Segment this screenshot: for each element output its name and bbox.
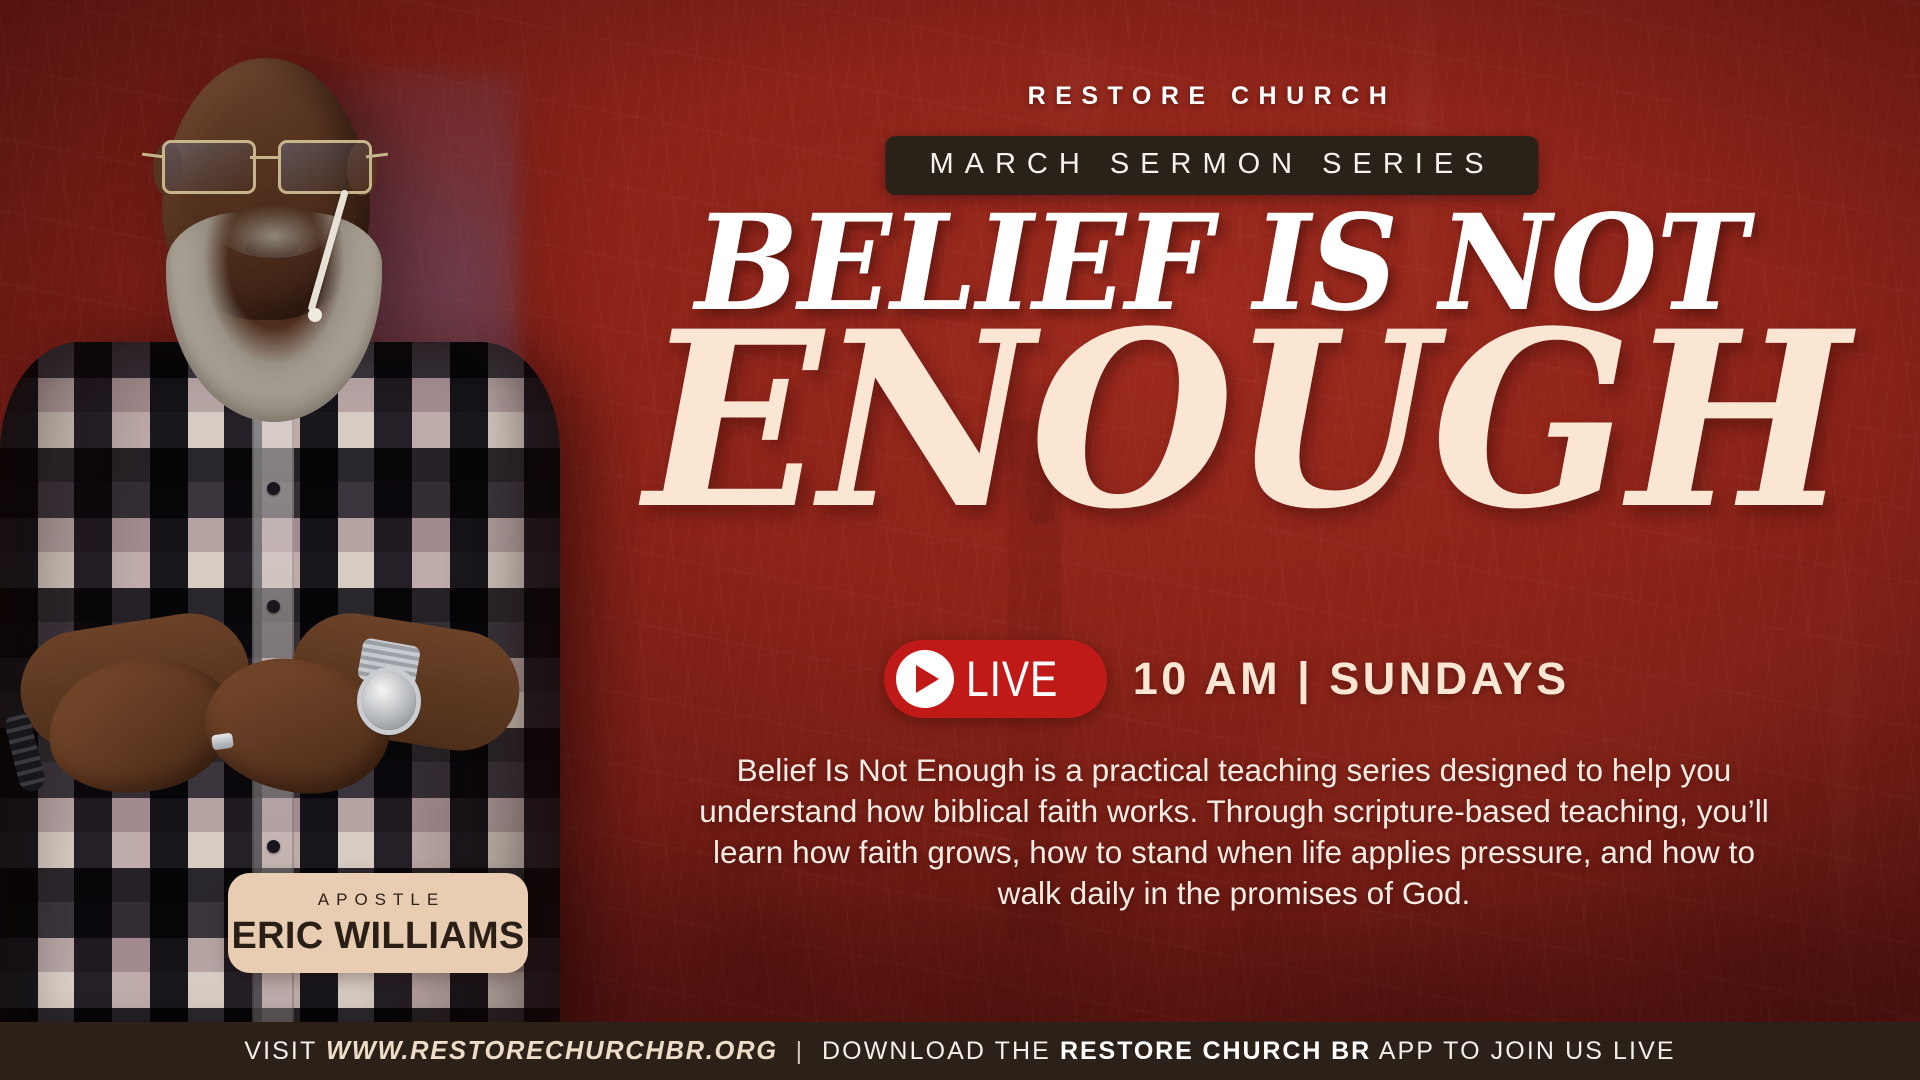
live-label: LIVE: [966, 654, 1058, 704]
live-info-row: LIVE 10 AM | SUNDAYS: [560, 640, 1894, 718]
footer-tail-label: APP TO JOIN US LIVE: [1371, 1037, 1676, 1066]
poster-content: RESTORE CHURCH MARCH SERMON SERIES BELIE…: [560, 0, 1920, 1022]
portrait-wristwatch: [362, 672, 416, 730]
speaker-portrait: [0, 0, 640, 1022]
footer-bar: VISIT WWW.RESTORECHURCHBR.ORG | DOWNLOAD…: [0, 1022, 1920, 1080]
footer-visit-label: VISIT: [244, 1037, 326, 1066]
glasses-icon: [158, 140, 378, 192]
footer-app-name: RESTORE CHURCH BR: [1060, 1037, 1371, 1066]
series-description: Belief Is Not Enough is a practical teac…: [678, 750, 1790, 914]
play-icon: [896, 650, 954, 708]
sermon-series-poster: RESTORE CHURCH MARCH SERMON SERIES BELIE…: [0, 0, 1920, 1080]
speaker-role: APOSTLE: [228, 890, 528, 910]
live-badge[interactable]: LIVE: [884, 640, 1106, 718]
footer-download-label: DOWNLOAD THE: [822, 1037, 1060, 1066]
footer-separator: |: [778, 1037, 822, 1066]
portrait-ring: [211, 733, 234, 751]
church-name: RESTORE CHURCH: [560, 82, 1864, 111]
title-line-2: ENOUGH: [581, 300, 1910, 542]
service-time: 10 AM | SUNDAYS: [1133, 653, 1570, 705]
footer-website-link[interactable]: WWW.RESTORECHURCHBR.ORG: [326, 1037, 778, 1066]
speaker-name: ERIC WILLIAMS: [228, 915, 528, 958]
speaker-nameplate: APOSTLE ERIC WILLIAMS: [228, 873, 528, 973]
